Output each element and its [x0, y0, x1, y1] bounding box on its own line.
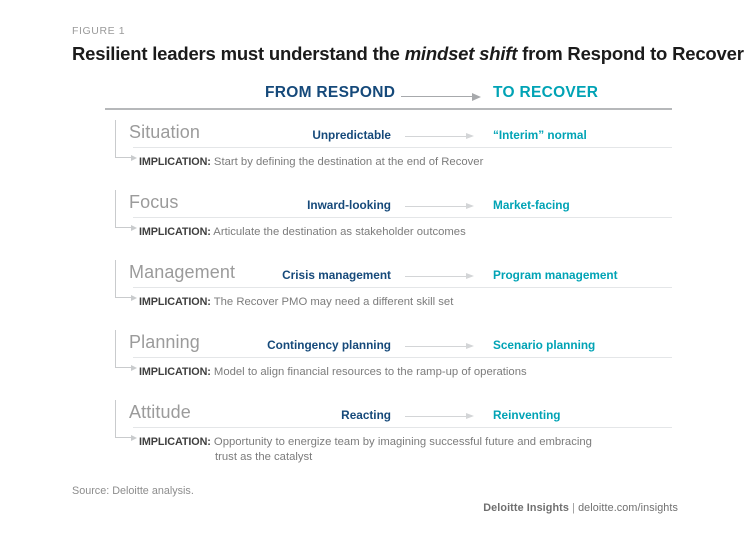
table-row: Focus Inward-looking Market-facing IMPLI… [105, 186, 672, 256]
elbow-horizontal [115, 297, 132, 298]
brand-name: Deloitte Insights [483, 502, 569, 514]
elbow-vertical [115, 190, 116, 228]
table-row: Planning Contingency planning Scenario p… [105, 326, 672, 396]
arrow-shaft [405, 346, 467, 347]
row-implication: IMPLICATION: Opportunity to energize tea… [139, 435, 664, 465]
header-divider [105, 108, 672, 110]
row-to-value: “Interim” normal [493, 128, 587, 142]
arrow-shaft [405, 136, 467, 137]
implication-text: Opportunity to energize team by imaginin… [211, 436, 592, 448]
row-divider [133, 217, 672, 218]
right-arrow-icon [405, 413, 481, 420]
elbow-horizontal [115, 157, 132, 158]
arrow-head [466, 413, 474, 419]
arrow-shaft [405, 206, 467, 207]
implication-label: IMPLICATION: [139, 156, 211, 168]
row-from-value: Unpredictable [255, 128, 391, 142]
arrow-head [466, 203, 474, 209]
table-row: Management Crisis management Program man… [105, 256, 672, 326]
arrow-head [472, 93, 481, 101]
elbow-vertical [115, 120, 116, 158]
elbow-vertical [115, 400, 116, 438]
row-from-value: Inward-looking [255, 198, 391, 212]
implication-label: IMPLICATION: [139, 366, 211, 378]
elbow-connector-icon [115, 260, 141, 302]
brand-url: deloitte.com/insights [578, 502, 678, 514]
title-part-prefix: Resilient leaders must understand the [72, 43, 405, 64]
elbow-arrow-head [131, 435, 137, 441]
row-to-value: Program management [493, 268, 618, 282]
row-from-value: Crisis management [255, 268, 391, 282]
elbow-horizontal [115, 227, 132, 228]
row-category-label: Management [129, 262, 235, 283]
right-arrow-icon [401, 93, 483, 101]
implication-label: IMPLICATION: [139, 296, 211, 308]
column-header-to-recover: TO RECOVER [493, 84, 598, 102]
right-arrow-icon [405, 343, 481, 350]
row-to-value: Scenario planning [493, 338, 595, 352]
column-header-from-respond: FROM RESPOND [265, 84, 391, 102]
row-divider [133, 427, 672, 428]
elbow-connector-icon [115, 190, 141, 232]
elbow-connector-icon [115, 330, 141, 372]
implication-label: IMPLICATION: [139, 226, 211, 238]
implication-label: IMPLICATION: [139, 436, 211, 448]
elbow-arrow-head [131, 365, 137, 371]
table-row: Attitude Reacting Reinventing IMPLICATIO… [105, 396, 672, 478]
row-implication: IMPLICATION: The Recover PMO may need a … [139, 295, 664, 310]
right-arrow-icon [405, 203, 481, 210]
source-note: Source: Deloitte analysis. [72, 485, 194, 497]
arrow-shaft [401, 96, 473, 97]
arrow-shaft [405, 416, 467, 417]
row-divider [133, 287, 672, 288]
row-implication: IMPLICATION: Articulate the destination … [139, 225, 664, 240]
title-part-suffix: from Respond to Recover [517, 43, 744, 64]
implication-text-continued: trust as the catalyst [139, 450, 664, 465]
arrow-shaft [405, 276, 467, 277]
implication-text: Start by defining the destination at the… [211, 156, 484, 168]
elbow-arrow-head [131, 225, 137, 231]
figure-label: FIGURE 1 [72, 25, 125, 37]
implication-text: Model to align financial resources to th… [211, 366, 527, 378]
elbow-arrow-head [131, 295, 137, 301]
implication-text: Articulate the destination as stakeholde… [211, 226, 466, 238]
elbow-vertical [115, 330, 116, 368]
row-divider [133, 357, 672, 358]
table-row: Situation Unpredictable “Interim” normal… [105, 116, 672, 186]
right-arrow-icon [405, 273, 481, 280]
row-divider [133, 147, 672, 148]
brand-separator: | [569, 502, 578, 514]
row-list: Situation Unpredictable “Interim” normal… [105, 116, 672, 478]
mindset-shift-table: FROM RESPOND TO RECOVER Situation Unpred… [105, 84, 672, 466]
title-part-emphasis: mindset shift [405, 43, 518, 64]
arrow-head [466, 133, 474, 139]
row-from-value: Reacting [255, 408, 391, 422]
row-to-value: Reinventing [493, 408, 561, 422]
elbow-arrow-head [131, 155, 137, 161]
implication-text: The Recover PMO may need a different ski… [211, 296, 454, 308]
column-header-row: FROM RESPOND TO RECOVER [105, 84, 672, 106]
elbow-connector-icon [115, 120, 141, 162]
elbow-vertical [115, 260, 116, 298]
arrow-head [466, 273, 474, 279]
elbow-connector-icon [115, 400, 141, 442]
row-to-value: Market-facing [493, 198, 570, 212]
page-title: Resilient leaders must understand the mi… [72, 43, 744, 65]
elbow-horizontal [115, 367, 132, 368]
row-implication: IMPLICATION: Model to align financial re… [139, 365, 664, 380]
arrow-head [466, 343, 474, 349]
elbow-horizontal [115, 437, 132, 438]
row-implication: IMPLICATION: Start by defining the desti… [139, 155, 664, 170]
row-from-value: Contingency planning [255, 338, 391, 352]
brand-credit: Deloitte Insights | deloitte.com/insight… [483, 502, 678, 514]
right-arrow-icon [405, 133, 481, 140]
